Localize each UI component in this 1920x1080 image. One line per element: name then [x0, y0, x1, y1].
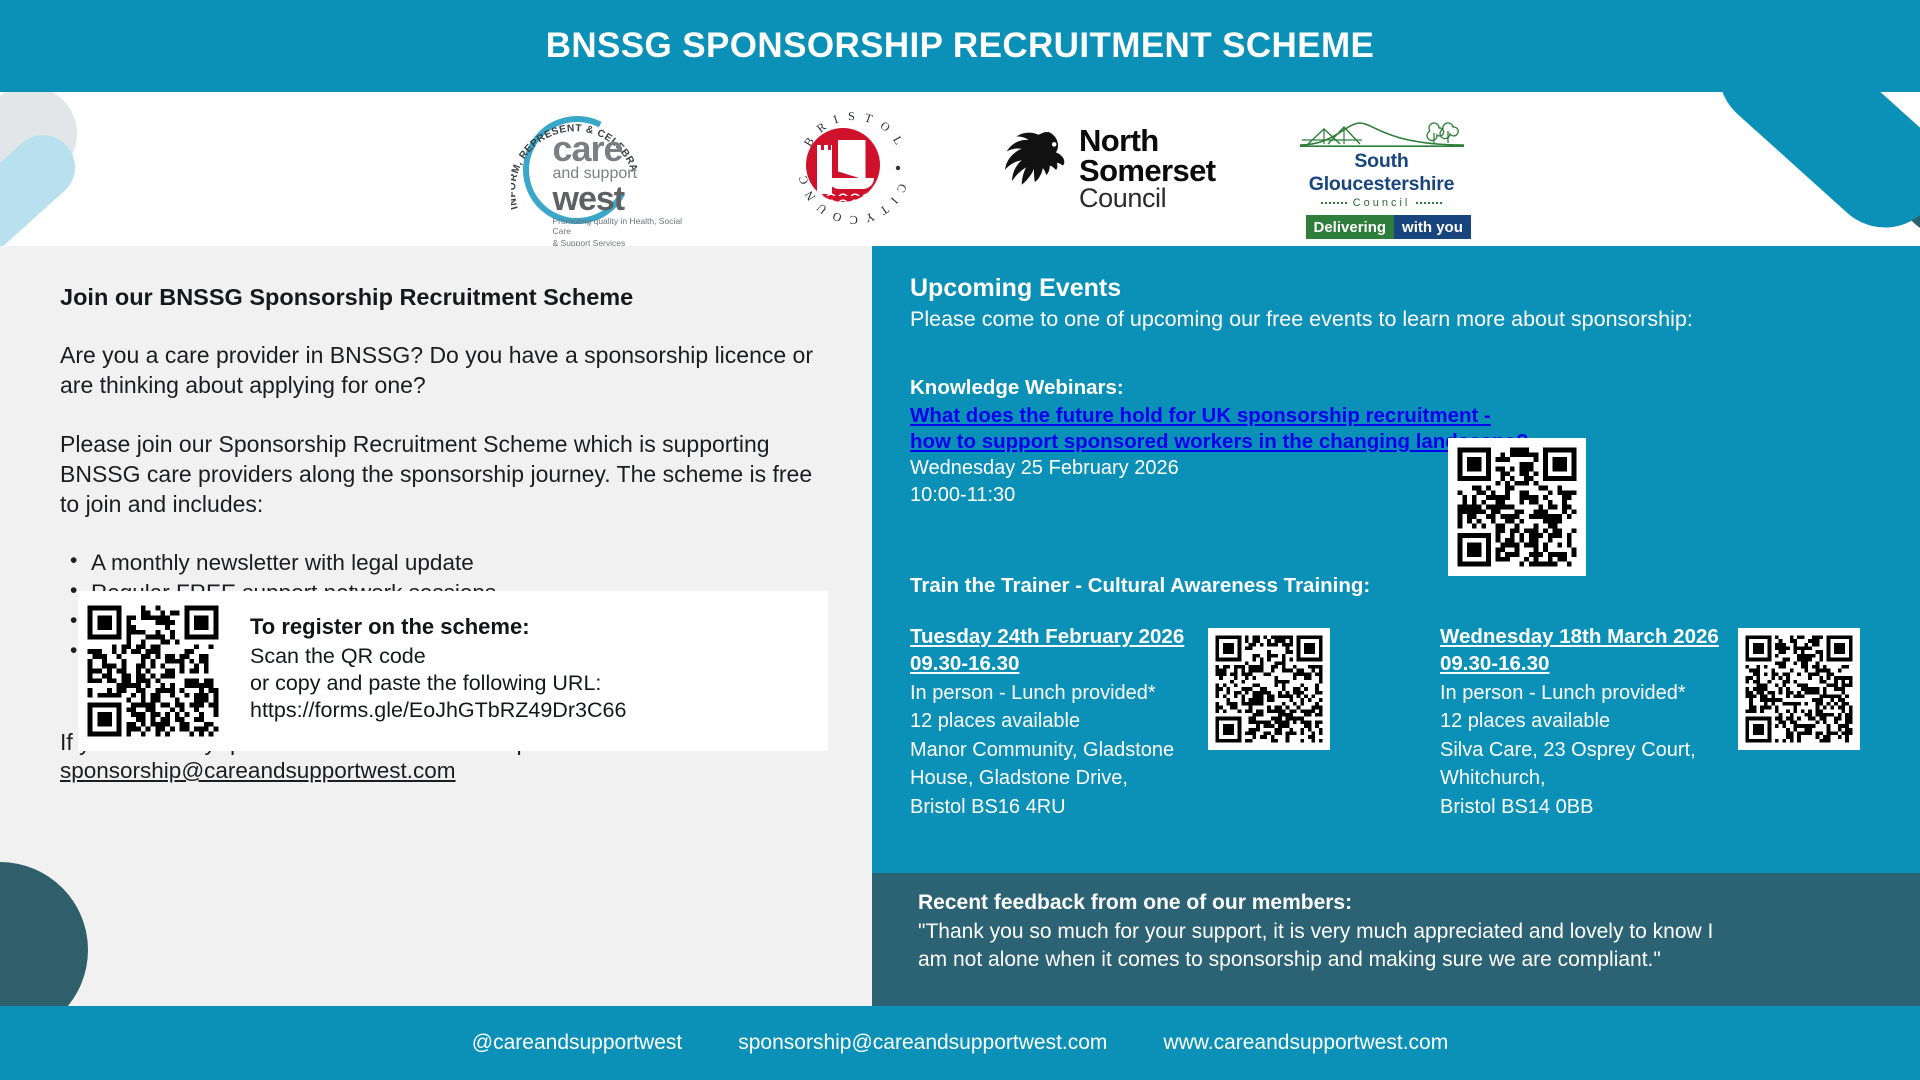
- logo-strip: INFORM, REPRESENT & CELEBRATE care and s…: [0, 92, 1920, 246]
- feedback-band: Recent feedback from one of our members:…: [872, 873, 1920, 1006]
- train-the-trainer-mar-qr-code[interactable]: [1738, 628, 1860, 750]
- left-paragraph-1: Are you a care provider in BNSSG? Do you…: [60, 341, 826, 401]
- ns-word-north: North: [1079, 126, 1216, 156]
- train-the-trainer-sessions: Tuesday 24th February 2026 09.30-16.30 I…: [910, 624, 1920, 820]
- session-venue-line-3: Bristol BS16 4RU: [910, 794, 1198, 821]
- register-line-1: Scan the QR code: [250, 643, 626, 670]
- page-title: BNSSG SPONSORSHIP RECRUITMENT SCHEME: [546, 26, 1375, 66]
- session-card: Tuesday 24th February 2026 09.30-16.30 I…: [910, 624, 1440, 820]
- session-card: Wednesday 18th March 2026 09.30-16.30 In…: [1440, 624, 1910, 820]
- footer-website[interactable]: www.careandsupportwest.com: [1163, 1031, 1448, 1055]
- logo-bristol-city-council: B R I S T O L C I T Y C O U N C I L: [784, 108, 920, 230]
- webinar-date: Wednesday 25 February 2026: [910, 455, 1920, 481]
- register-qr-code[interactable]: [78, 591, 228, 751]
- knowledge-webinars-block: Knowledge Webinars: What does the future…: [910, 376, 1920, 508]
- session-venue-line-2: House, Gladstone Drive,: [910, 765, 1198, 792]
- session-places: 12 places available: [910, 708, 1198, 735]
- ns-griffin-icon: [998, 121, 1074, 217]
- knowledge-webinars-label: Knowledge Webinars:: [910, 376, 1920, 400]
- footer-social-handle[interactable]: @careandsupportwest: [472, 1031, 682, 1055]
- logo-south-gloucestershire-council: South Gloucestershire Council Delivering…: [1294, 113, 1470, 225]
- list-item: A monthly newsletter with legal update: [60, 548, 826, 578]
- upcoming-events-subtitle: Please come to one of upcoming our free …: [910, 307, 1920, 332]
- footer: @careandsupportwest sponsorship@careands…: [0, 1006, 1920, 1080]
- feedback-quote-line-2: am not alone when it comes to sponsorshi…: [918, 946, 1880, 974]
- csw-wordmark: care and support west Promoting quality …: [553, 132, 703, 246]
- session-venue-line-3: Bristol BS14 0BB: [1440, 794, 1728, 821]
- sg-dash-left: [1321, 202, 1347, 204]
- session-format: In person - Lunch provided*: [910, 680, 1198, 707]
- ns-word-council: Council: [1079, 186, 1216, 212]
- webinar-title-link-line-1[interactable]: What does the future hold for UK sponsor…: [910, 403, 1570, 429]
- feedback-quote-line-1: "Thank you so much for your support, it …: [918, 918, 1880, 946]
- sg-dash-right: [1416, 202, 1442, 204]
- session-venue-line-2: Whitchurch,: [1440, 765, 1728, 792]
- train-the-trainer-heading: Train the Trainer - Cultural Awareness T…: [910, 574, 1920, 598]
- ns-word-somerset: Somerset: [1079, 156, 1216, 186]
- train-the-trainer-feb-qr-code[interactable]: [1208, 628, 1330, 750]
- ns-wordmark: North Somerset Council: [1079, 126, 1216, 211]
- csw-word-west: west: [553, 183, 703, 215]
- sg-word-council: Council: [1353, 197, 1411, 209]
- session-venue-line-1: Manor Community, Gladstone: [910, 737, 1198, 764]
- upcoming-events-title: Upcoming Events: [910, 274, 1920, 303]
- poster-root: BNSSG SPONSORSHIP RECRUITMENT SCHEME INF…: [0, 0, 1920, 1080]
- left-paragraph-2: Please join our Sponsorship Recruitment …: [60, 430, 826, 520]
- sg-landscape-icon: [1294, 113, 1470, 149]
- session-time: 09.30-16.30: [1440, 651, 1728, 678]
- contact-email-link[interactable]: sponsorship@careandsupportwest.com: [60, 758, 456, 784]
- register-url[interactable]: https://forms.gle/EoJhGTbRZ49Dr3C66: [250, 697, 626, 724]
- bcc-ship-emblem-icon: [806, 128, 880, 202]
- left-heading: Join our BNSSG Sponsorship Recruitment S…: [60, 284, 826, 311]
- sg-word-name: South Gloucestershire: [1294, 150, 1470, 196]
- webinar-time: 10:00-11:30: [910, 482, 1920, 508]
- logo-care-and-support-west: INFORM, REPRESENT & CELEBRATE care and s…: [511, 108, 706, 230]
- csw-tagline-1: Promoting quality in Health, Social Care: [553, 216, 703, 237]
- csw-tagline-2: & Support Services: [553, 238, 703, 246]
- session-date: Wednesday 18th March 2026: [1440, 624, 1728, 651]
- register-line-2: or copy and paste the following URL:: [250, 670, 626, 697]
- footer-email[interactable]: sponsorship@careandsupportwest.com: [738, 1031, 1107, 1055]
- header-bar: BNSSG SPONSORSHIP RECRUITMENT SCHEME: [0, 0, 1920, 92]
- feedback-title: Recent feedback from one of our members:: [918, 891, 1880, 915]
- session-date: Tuesday 24th February 2026: [910, 624, 1198, 651]
- csw-word-care: care: [553, 132, 703, 165]
- sg-strap-with-you: with you: [1394, 215, 1471, 239]
- sg-strap-delivering: Delivering: [1306, 215, 1395, 239]
- webinar-qr-code[interactable]: [1448, 438, 1586, 576]
- register-card: To register on the scheme: Scan the QR c…: [78, 591, 828, 751]
- session-format: In person - Lunch provided*: [1440, 680, 1728, 707]
- sg-strapline: Delivering with you: [1306, 215, 1458, 239]
- session-places: 12 places available: [1440, 708, 1728, 735]
- session-venue-line-1: Silva Care, 23 Osprey Court,: [1440, 737, 1728, 764]
- register-title: To register on the scheme:: [250, 614, 626, 640]
- session-time: 09.30-16.30: [910, 651, 1198, 678]
- logo-north-somerset-council: North Somerset Council: [998, 114, 1216, 224]
